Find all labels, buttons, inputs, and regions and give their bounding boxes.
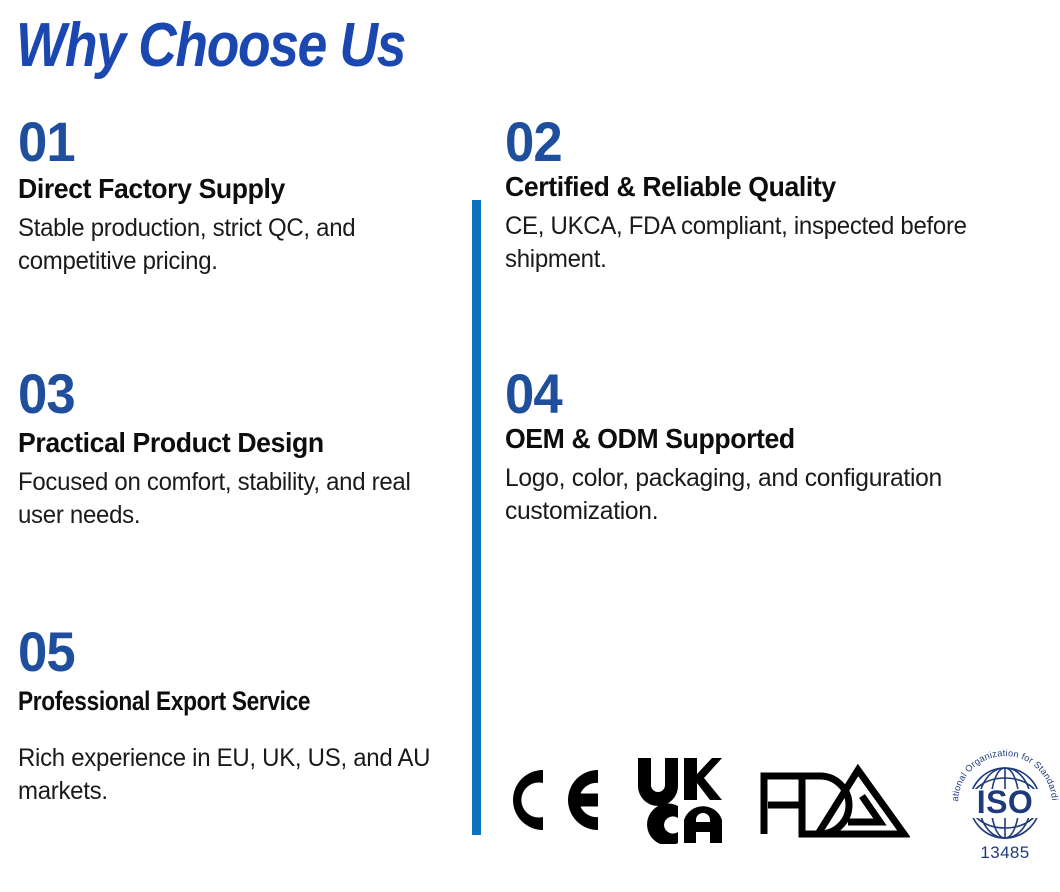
feature-item-05: 05 Professional Export Service Rich expe…: [18, 622, 458, 808]
iso-standard-number: 13485: [980, 843, 1029, 862]
feature-title: Professional Export Service: [18, 684, 388, 718]
feature-description: Rich experience in EU, UK, US, and AU ma…: [18, 742, 440, 808]
page-title: Why Choose Us: [16, 12, 405, 80]
feature-title: OEM & ODM Supported: [505, 422, 1026, 456]
feature-description: Focused on comfort, stability, and real …: [18, 466, 440, 532]
feature-description: Logo, color, packaging, and configuratio…: [505, 462, 1045, 528]
why-choose-us-panel: Why Choose Us 01 Direct Factory Supply S…: [0, 0, 1060, 892]
feature-item-01: 01 Direct Factory Supply Stable producti…: [18, 112, 458, 278]
feature-item-02: 02 Certified & Reliable Quality CE, UKCA…: [505, 112, 1053, 276]
feature-number: 01: [18, 112, 432, 172]
column-divider: [472, 200, 481, 835]
feature-number: 05: [18, 622, 432, 682]
fda-mark-icon: [758, 762, 910, 843]
feature-item-03: 03 Practical Product Design Focused on c…: [18, 364, 458, 532]
feature-title: Practical Product Design: [18, 426, 436, 460]
feature-number: 03: [18, 364, 432, 424]
feature-item-04: 04 OEM & ODM Supported Logo, color, pack…: [505, 364, 1053, 528]
ukca-mark-icon: [636, 756, 722, 849]
feature-title: Direct Factory Supply: [18, 172, 436, 206]
iso-mark-icon: International Organization for Standardi…: [946, 741, 1060, 863]
iso-center-text: ISO: [977, 784, 1034, 820]
feature-number: 02: [505, 112, 1020, 172]
feature-description: CE, UKCA, FDA compliant, inspected befor…: [505, 210, 1031, 276]
ce-mark-icon: [500, 764, 600, 841]
feature-title: Certified & Reliable Quality: [505, 170, 1026, 204]
feature-number: 04: [505, 364, 1020, 424]
certification-logo-row: International Organization for Standardi…: [500, 742, 1040, 862]
feature-description: Stable production, strict QC, and compet…: [18, 212, 440, 278]
